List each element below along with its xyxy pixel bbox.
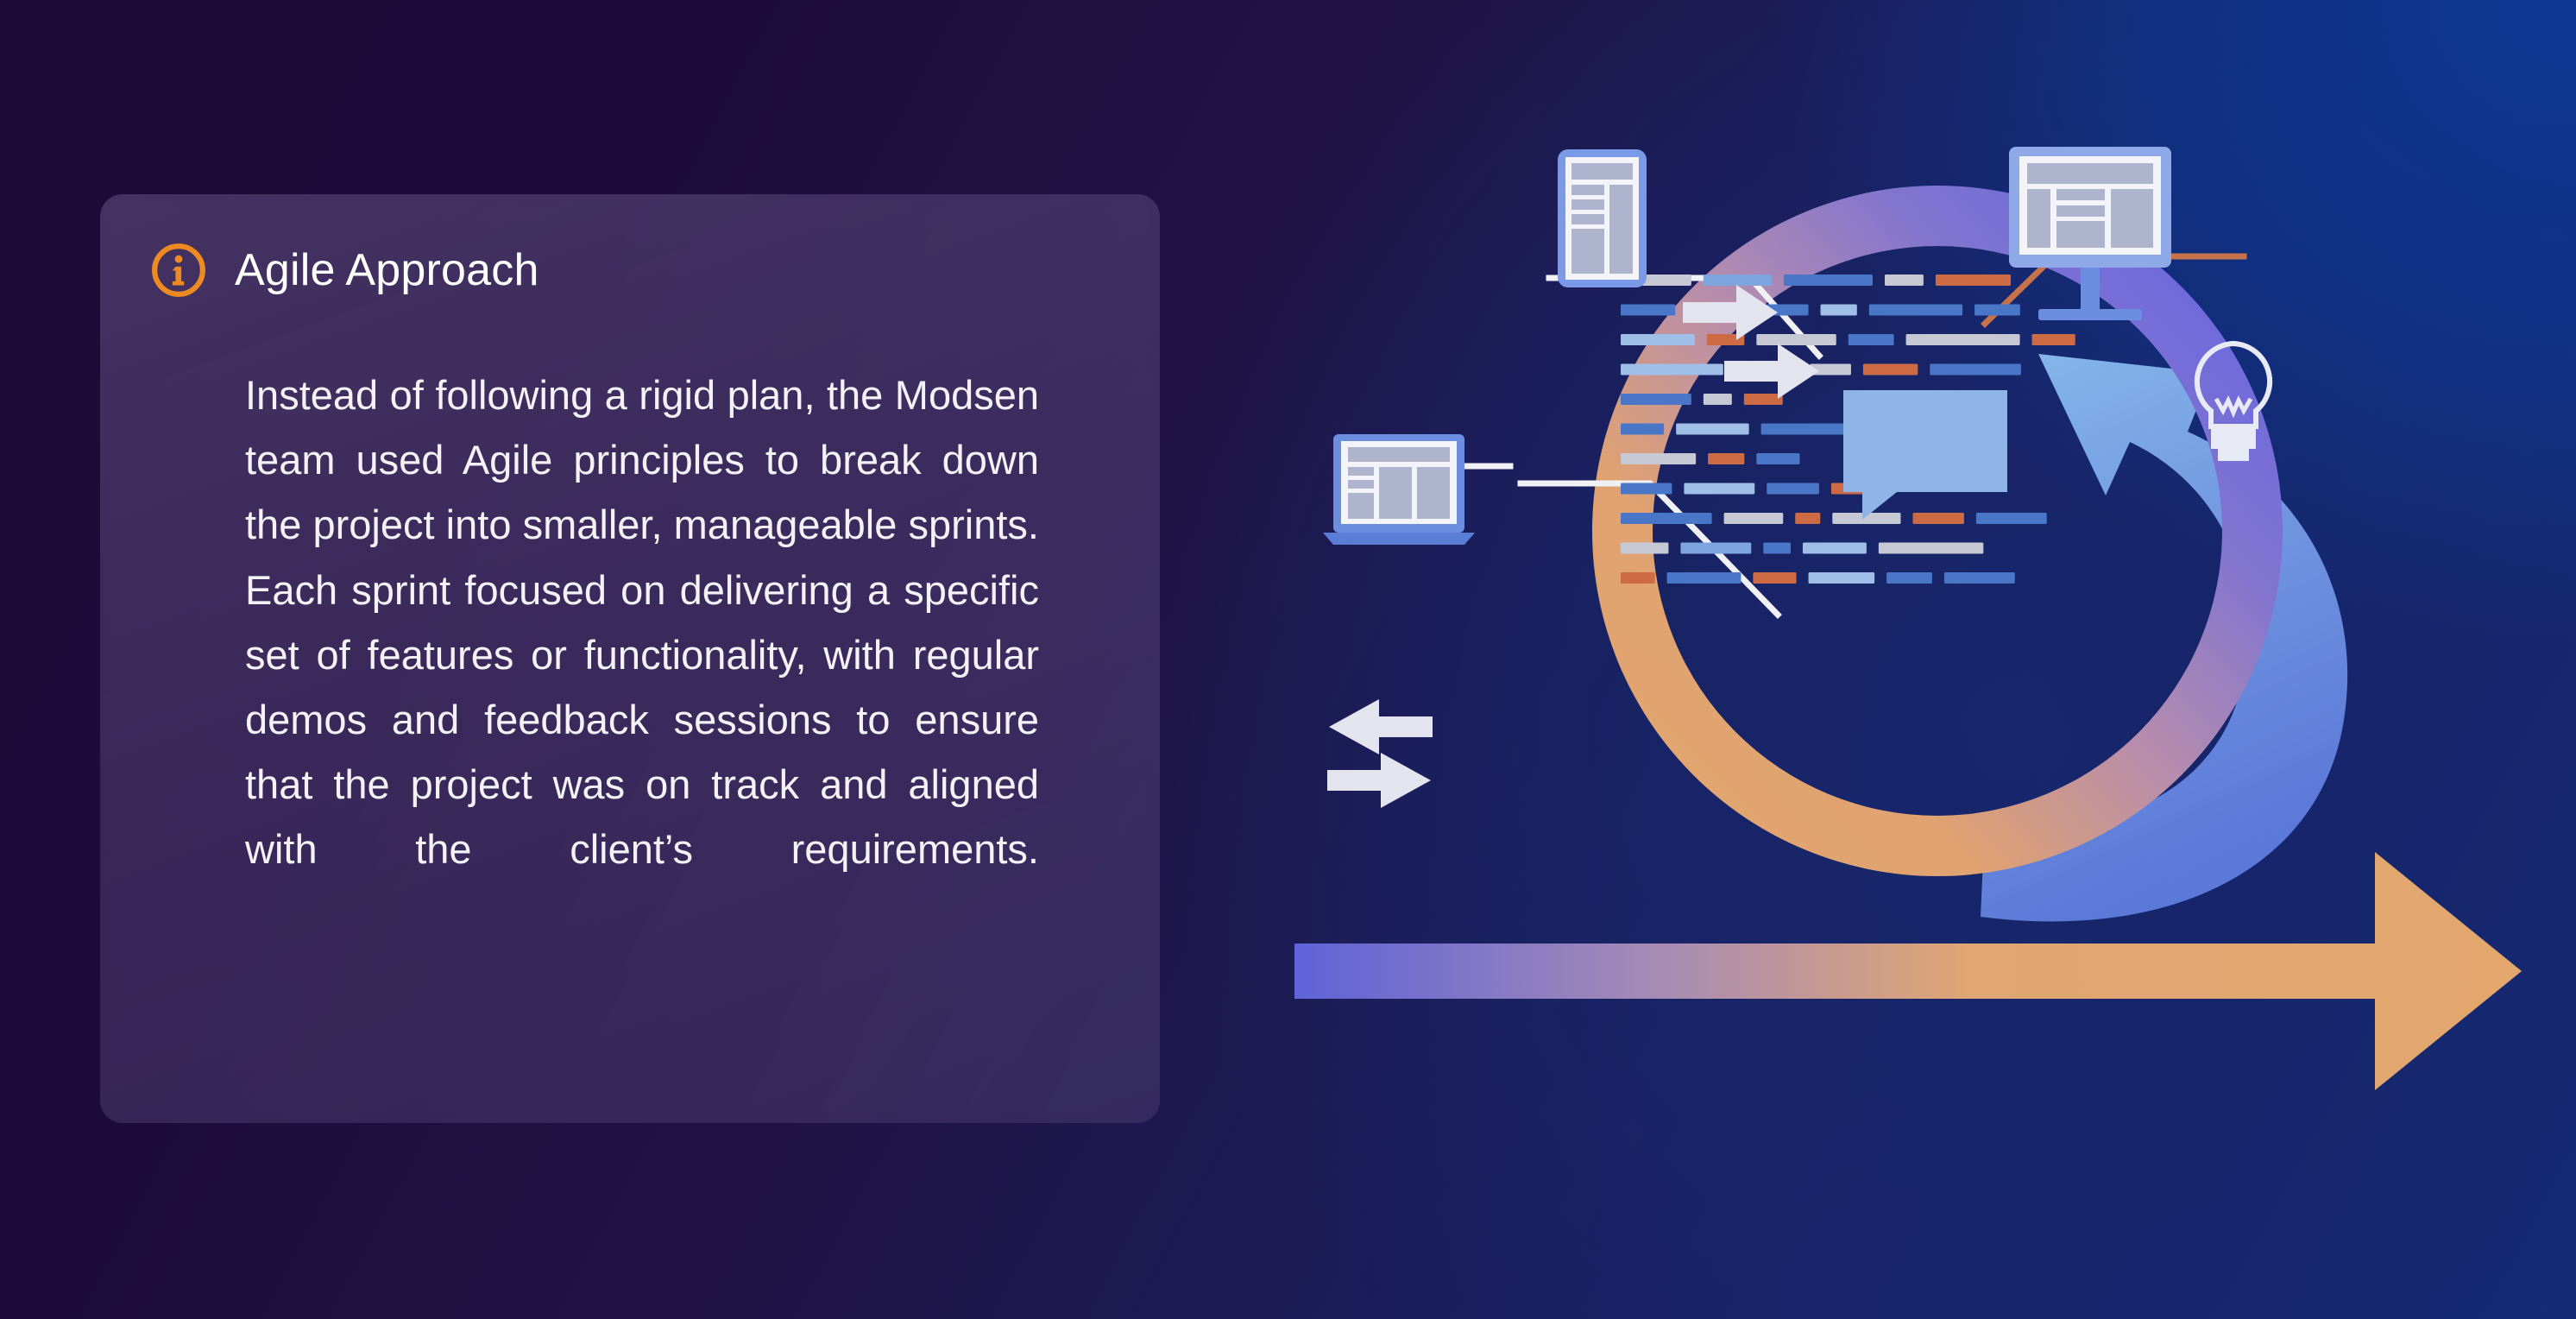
code-line-segment <box>1621 513 1712 524</box>
code-line-segment <box>1763 543 1791 554</box>
code-line-segment <box>1621 543 1668 554</box>
code-line-segment <box>1885 275 1924 286</box>
code-line-segment <box>1863 364 1918 376</box>
code-line-segment <box>1975 305 2020 316</box>
code-line-segment <box>1704 394 1732 405</box>
code-line-segment <box>1680 543 1751 554</box>
page-title: Agile Approach <box>235 244 539 296</box>
code-line-segment <box>1784 275 1873 286</box>
code-line-segment <box>1621 424 1664 435</box>
code-line-segment <box>1621 364 1723 376</box>
code-line-segment <box>1795 513 1820 524</box>
code-line-segment <box>1767 483 1819 495</box>
code-line-segment <box>1708 453 1744 464</box>
code-line-segment <box>1906 334 2020 345</box>
code-line-segment <box>1704 275 1772 286</box>
code-line-segment <box>1886 572 1932 584</box>
code-line-segment <box>1724 513 1784 524</box>
code-line-segment <box>1944 572 2015 584</box>
code-line-segment <box>1621 334 1695 345</box>
code-line-segment <box>1869 305 1962 316</box>
code-line-segment <box>1621 572 1655 584</box>
forward-progress-arrow <box>1294 852 2522 1090</box>
code-line-segment <box>1809 572 1875 584</box>
card-body-text: Instead of following a rigid plan, the M… <box>245 363 1039 947</box>
code-line-segment <box>1821 305 1857 316</box>
code-line-segment <box>1684 483 1754 495</box>
info-circle-icon <box>150 242 207 299</box>
slide-root: Agile Approach Instead of following a ri… <box>0 0 2576 1319</box>
code-line-segment <box>1803 543 1867 554</box>
code-line-segment <box>1667 572 1741 584</box>
phone-mockup <box>1558 149 1647 287</box>
code-line-segment <box>1936 275 2011 286</box>
code-line-segment <box>1756 334 1836 345</box>
code-line-segment <box>1621 394 1691 405</box>
code-line-segment <box>1879 543 1983 554</box>
code-line-segment <box>1849 334 1894 345</box>
code-line-segment <box>1756 453 1799 464</box>
code-line-segment <box>1930 364 2021 376</box>
code-line-segment <box>1912 513 1963 524</box>
code-line-segment <box>1744 394 1783 405</box>
agile-cycle-illustration <box>1294 0 2576 1319</box>
code-line-segment <box>1621 453 1696 464</box>
laptop-mockup <box>1323 434 1475 545</box>
code-line-segment <box>1676 424 1748 435</box>
speech-bubble-icon <box>1843 390 2007 520</box>
exchange-arrows-left <box>1327 699 1433 808</box>
info-card: Agile Approach Instead of following a ri… <box>100 194 1160 1123</box>
card-header: Agile Approach <box>150 242 539 299</box>
code-line-segment <box>1621 305 1675 316</box>
code-line-segment <box>1761 424 1855 435</box>
code-line-segment <box>2032 334 2075 345</box>
code-line-segment <box>1976 513 2047 524</box>
code-line-segment <box>1753 572 1796 584</box>
code-line-segment <box>1621 483 1672 495</box>
